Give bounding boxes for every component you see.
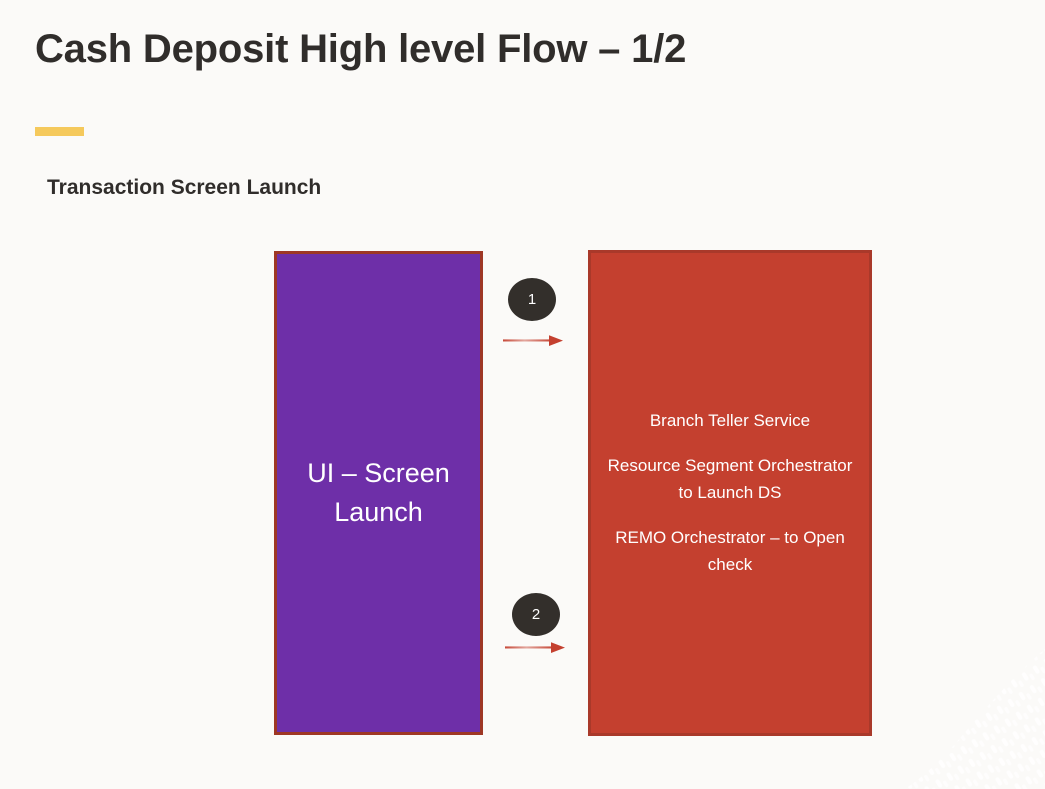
title-accent-bar	[35, 127, 84, 136]
step-badge-2[interactable]: 2	[512, 593, 560, 636]
flow-arrow-1-icon	[503, 333, 568, 349]
flow-box-ui-screen-launch[interactable]: UI – Screen Launch	[274, 251, 483, 735]
decorative-corner-texture-icon	[905, 639, 1045, 789]
flow-box-ui-label: UI – Screen Launch	[277, 454, 480, 532]
service-line-2: Resource Segment Orchestrator to Launch …	[601, 453, 859, 506]
step-badge-1[interactable]: 1	[508, 278, 556, 321]
service-line-1: Branch Teller Service	[601, 408, 859, 434]
flow-box-service-label: Branch Teller Service Resource Segment O…	[591, 408, 869, 578]
page-subtitle: Transaction Screen Launch	[47, 176, 321, 200]
flow-arrow-2-icon	[505, 640, 570, 656]
service-line-3: REMO Orchestrator – to Open check	[601, 525, 859, 578]
slide-canvas: Cash Deposit High level Flow – 1/2 Trans…	[0, 0, 1045, 789]
flow-box-branch-teller-service[interactable]: Branch Teller Service Resource Segment O…	[588, 250, 872, 736]
page-title: Cash Deposit High level Flow – 1/2	[35, 27, 686, 72]
